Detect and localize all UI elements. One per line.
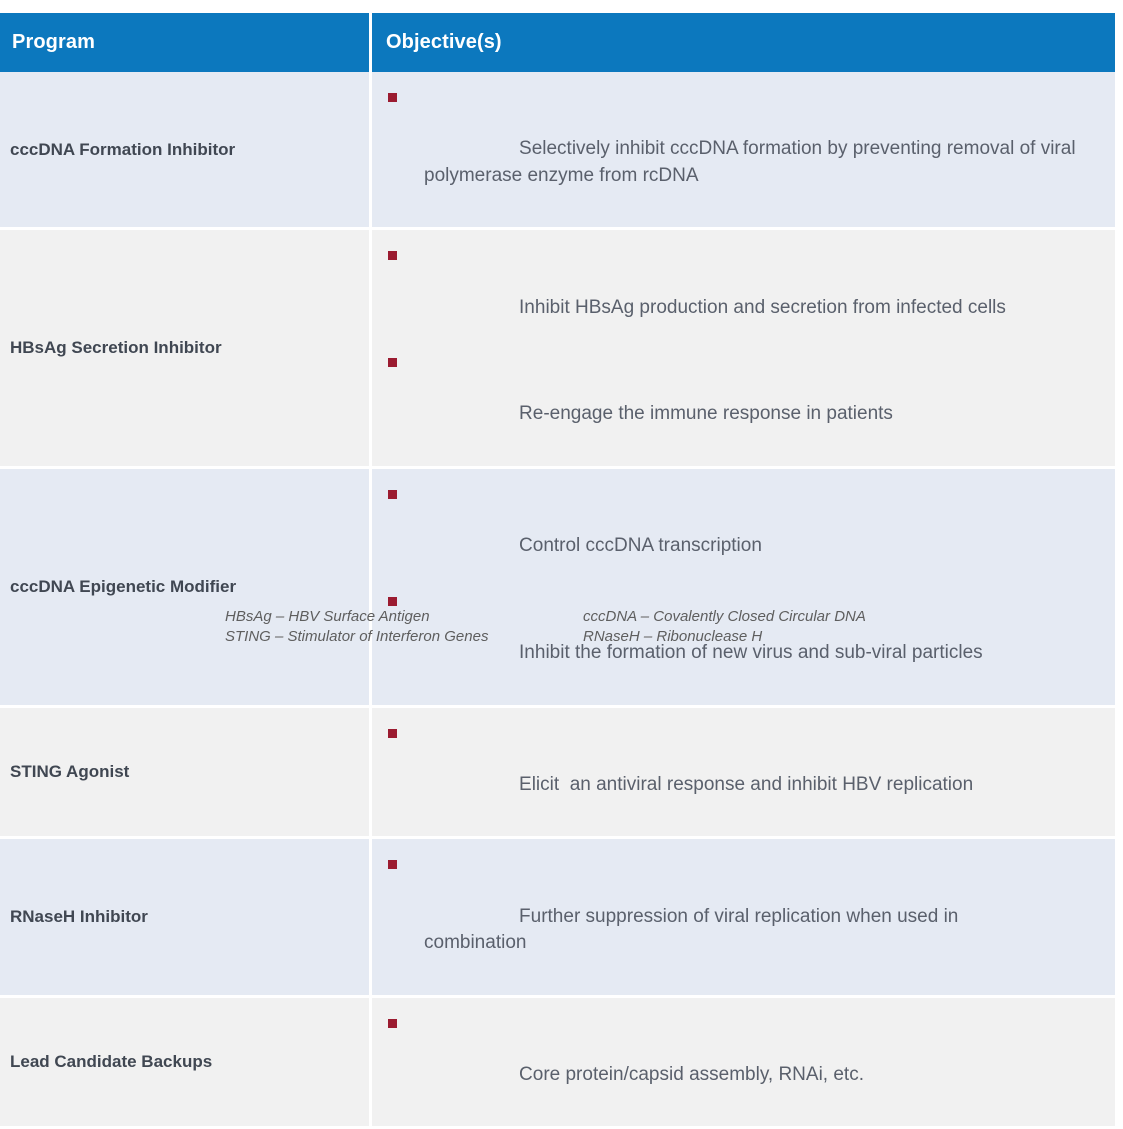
footnote-column-left: HBsAg – HBV Surface Antigen STING – Stim… xyxy=(225,607,488,647)
objective-item: Core protein/capsid assembly, RNAi, etc. xyxy=(380,1010,1099,1115)
objectives-list: Elicit an antiviral response and inhibit… xyxy=(380,720,1099,825)
objectives-list: Control cccDNA transcription Inhibit the… xyxy=(380,481,1099,693)
bullet-square-icon xyxy=(388,358,397,367)
table-row: HBsAg Secretion Inhibitor Inhibit HBsAg … xyxy=(0,230,1115,469)
footnotes: HBsAg – HBV Surface Antigen STING – Stim… xyxy=(0,607,1123,653)
footnote-line: STING – Stimulator of Interferon Genes xyxy=(225,627,488,647)
bullet-square-icon xyxy=(388,729,397,738)
bullet-square-icon xyxy=(388,93,397,102)
program-cell: HBsAg Secretion Inhibitor xyxy=(0,230,372,469)
table-row: STING Agonist Elicit an antiviral respon… xyxy=(0,708,1115,840)
footnote-line: RNaseH – Ribonuclease H xyxy=(583,627,866,647)
objectives-cell: Control cccDNA transcription Inhibit the… xyxy=(372,469,1115,708)
column-header-objectives: Objective(s) xyxy=(372,13,1115,72)
footnote-line: cccDNA – Covalently Closed Circular DNA xyxy=(583,607,866,627)
objective-text: Selectively inhibit cccDNA formation by … xyxy=(424,138,1081,185)
objectives-container: Control cccDNA transcription Inhibit the… xyxy=(372,469,1115,705)
footnote-line: HBsAg – HBV Surface Antigen xyxy=(225,607,488,627)
objectives-list: Inhibit HBsAg production and secretion f… xyxy=(380,242,1099,454)
bullet-square-icon xyxy=(388,597,397,606)
program-objectives-table-wrapper: Program Objective(s) cccDNA Formation In… xyxy=(0,13,1115,1129)
objectives-container: Elicit an antiviral response and inhibit… xyxy=(372,708,1115,837)
objective-item: Selectively inhibit cccDNA formation by … xyxy=(380,84,1099,215)
bullet-square-icon xyxy=(388,251,397,260)
objective-item: Inhibit HBsAg production and secretion f… xyxy=(380,242,1099,347)
table-row: cccDNA Formation Inhibitor Selectively i… xyxy=(0,72,1115,230)
objective-text: Inhibit HBsAg production and secretion f… xyxy=(519,297,1006,318)
bullet-square-icon xyxy=(388,1019,397,1028)
slide-root: Program Objective(s) cccDNA Formation In… xyxy=(0,0,1123,653)
objective-text: Core protein/capsid assembly, RNAi, etc. xyxy=(519,1064,864,1085)
objectives-container: Inhibit HBsAg production and secretion f… xyxy=(372,230,1115,466)
program-label: RNaseH Inhibitor xyxy=(0,896,369,938)
objectives-container: Core protein/capsid assembly, RNAi, etc. xyxy=(372,998,1115,1127)
objective-item: Further suppression of viral replication… xyxy=(380,851,1099,982)
table-row: cccDNA Epigenetic Modifier Control cccDN… xyxy=(0,469,1115,708)
objective-text: Control cccDNA transcription xyxy=(519,535,762,556)
program-cell: cccDNA Epigenetic Modifier xyxy=(0,469,372,708)
objective-item: Elicit an antiviral response and inhibit… xyxy=(380,720,1099,825)
objectives-list: Further suppression of viral replication… xyxy=(380,851,1099,982)
objectives-container: Further suppression of viral replication… xyxy=(372,839,1115,994)
objective-item: Re-engage the immune response in patient… xyxy=(380,349,1099,454)
objectives-container: Selectively inhibit cccDNA formation by … xyxy=(372,72,1115,227)
table-header-row: Program Objective(s) xyxy=(0,13,1115,72)
table-row: RNaseH Inhibitor Further suppression of … xyxy=(0,839,1115,997)
bullet-square-icon xyxy=(388,490,397,499)
table-row: Lead Candidate Backups Core protein/caps… xyxy=(0,998,1115,1129)
footnote-column-right: cccDNA – Covalently Closed Circular DNA … xyxy=(583,607,866,647)
objective-item: Control cccDNA transcription xyxy=(380,481,1099,586)
objectives-list: Core protein/capsid assembly, RNAi, etc. xyxy=(380,1010,1099,1115)
program-label: STING Agonist xyxy=(0,751,369,793)
objective-text: Re-engage the immune response in patient… xyxy=(519,403,893,424)
objectives-list: Selectively inhibit cccDNA formation by … xyxy=(380,84,1099,215)
program-cell: cccDNA Formation Inhibitor xyxy=(0,72,372,230)
program-label: Lead Candidate Backups xyxy=(0,1041,369,1083)
column-header-program: Program xyxy=(0,13,372,72)
objective-text: Further suppression of viral replication… xyxy=(424,906,964,953)
program-objectives-table: Program Objective(s) cccDNA Formation In… xyxy=(0,13,1115,1129)
objectives-cell: Further suppression of viral replication… xyxy=(372,839,1115,997)
objective-text: Elicit an antiviral response and inhibit… xyxy=(519,774,973,795)
table-body: cccDNA Formation Inhibitor Selectively i… xyxy=(0,72,1115,1129)
program-cell: STING Agonist xyxy=(0,708,372,840)
bullet-square-icon xyxy=(388,860,397,869)
program-label: cccDNA Epigenetic Modifier xyxy=(0,566,369,608)
objectives-cell: Core protein/capsid assembly, RNAi, etc. xyxy=(372,998,1115,1129)
objectives-cell: Selectively inhibit cccDNA formation by … xyxy=(372,72,1115,230)
objectives-cell: Elicit an antiviral response and inhibit… xyxy=(372,708,1115,840)
program-label: cccDNA Formation Inhibitor xyxy=(0,129,369,171)
program-cell: Lead Candidate Backups xyxy=(0,998,372,1129)
objectives-cell: Inhibit HBsAg production and secretion f… xyxy=(372,230,1115,469)
program-cell: RNaseH Inhibitor xyxy=(0,839,372,997)
program-label: HBsAg Secretion Inhibitor xyxy=(0,327,369,369)
table-header: Program Objective(s) xyxy=(0,13,1115,72)
